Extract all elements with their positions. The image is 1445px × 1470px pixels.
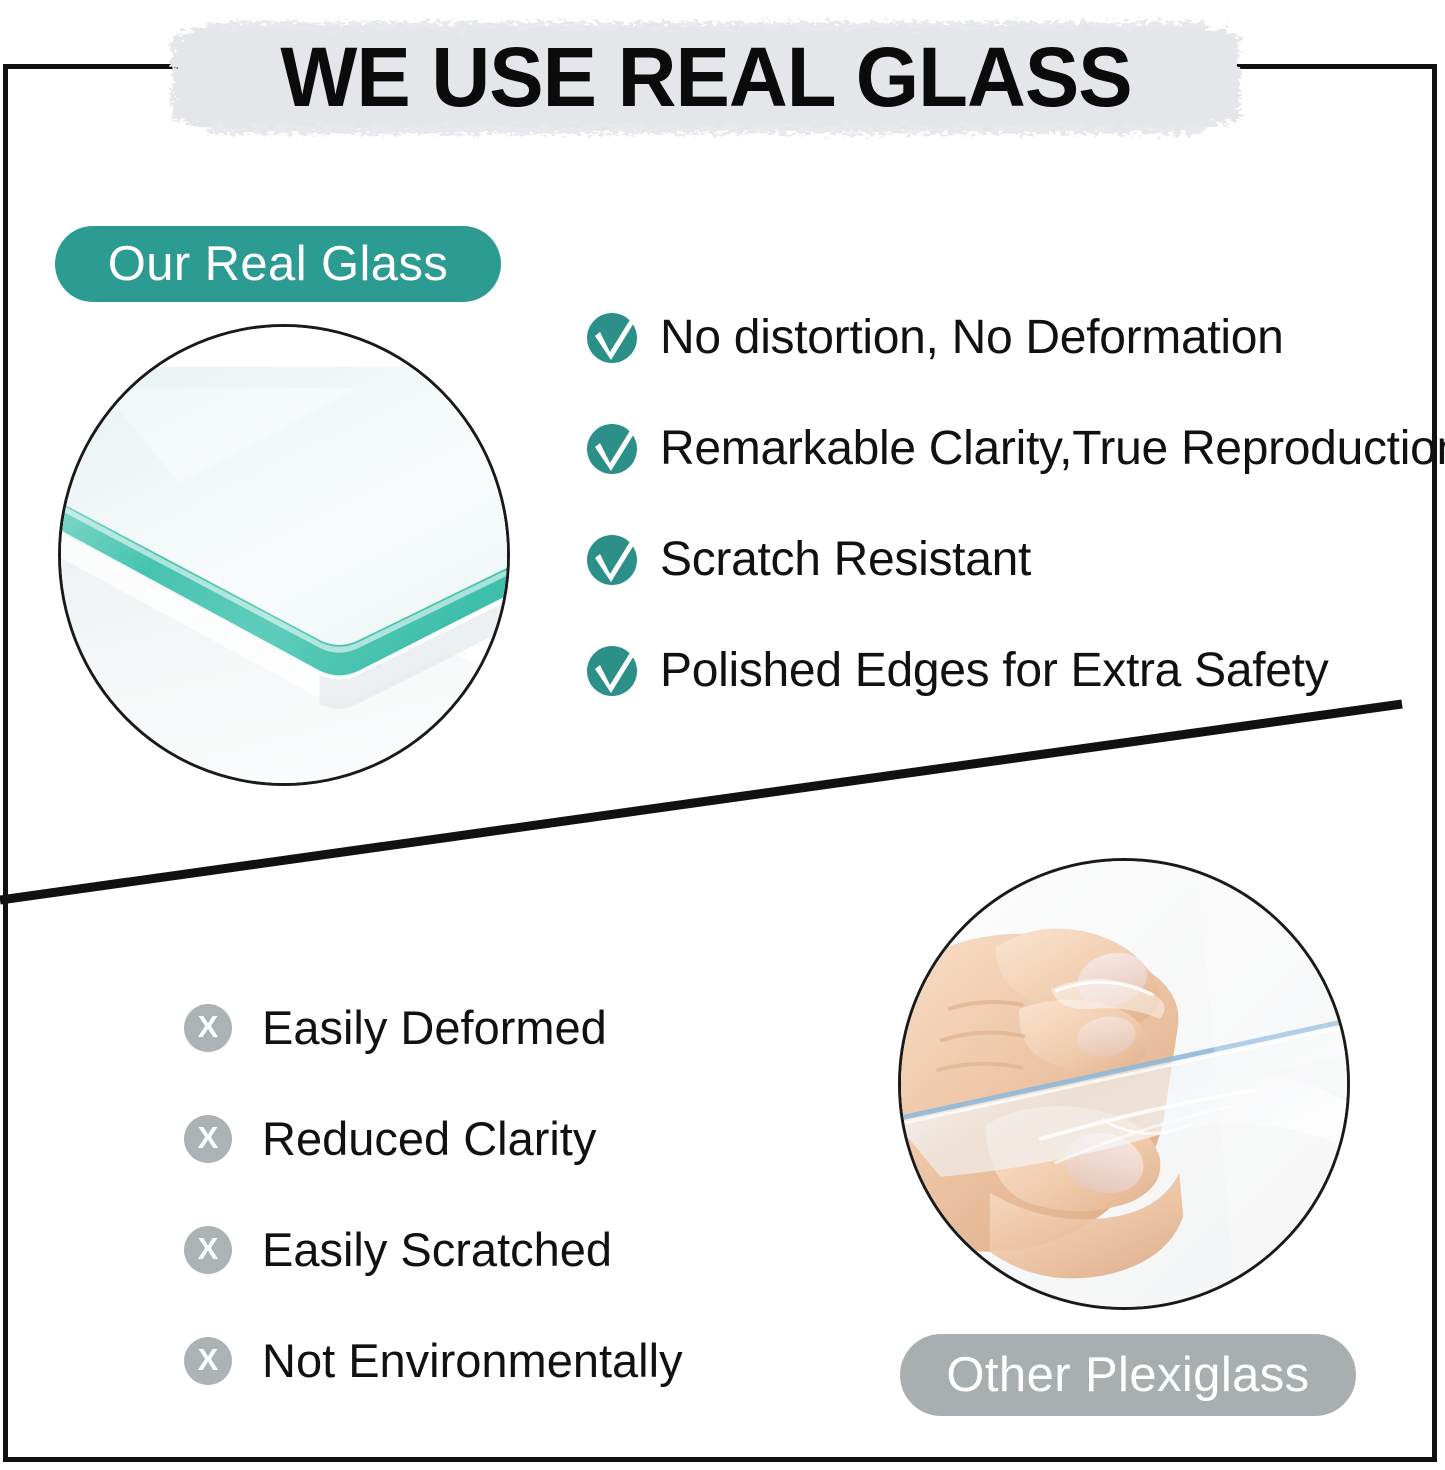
list-item: X Easily Scratched (184, 1194, 884, 1305)
list-item: X Reduced Clarity (184, 1083, 884, 1194)
check-icon-glyph (586, 641, 642, 699)
check-icon (586, 534, 638, 586)
check-icon-glyph (586, 308, 642, 366)
check-icon-glyph (586, 530, 642, 588)
list-item-label: Easily Scratched (262, 1226, 612, 1273)
x-icon: X (184, 1226, 232, 1274)
list-item-label: Reduced Clarity (262, 1115, 596, 1162)
list-item-label: Scratch Resistant (660, 536, 1031, 584)
list-item: X Easily Deformed (184, 972, 884, 1083)
check-icon (586, 312, 638, 364)
badge-other-plexiglass: Other Plexiglass (900, 1334, 1356, 1416)
title-banner: WE USE REAL GLASS (168, 14, 1244, 140)
list-item-label: Easily Deformed (262, 1004, 607, 1051)
list-item: Polished Edges for Extra Safety (586, 615, 1426, 726)
infographic-page: WE USE REAL GLASS Our Real Glass (0, 0, 1445, 1470)
check-icon (586, 423, 638, 475)
plexiglass-photo (898, 858, 1350, 1310)
check-icon (586, 645, 638, 697)
hand-bending-plexiglass-illustration (901, 861, 1347, 1307)
list-item: X Not Environmentally (184, 1305, 884, 1416)
list-item: Remarkable Clarity,True Reproduction (586, 393, 1426, 504)
x-icon: X (184, 1004, 232, 1052)
x-icon: X (184, 1115, 232, 1163)
badge-our-real-glass: Our Real Glass (55, 226, 501, 302)
list-item-label: Polished Edges for Extra Safety (660, 647, 1328, 695)
check-icon-glyph (586, 419, 642, 477)
list-item: Scratch Resistant (586, 504, 1426, 615)
list-item-label: Remarkable Clarity,True Reproduction (660, 425, 1445, 473)
real-glass-photo (58, 324, 510, 786)
list-item-label: No distortion, No Deformation (660, 314, 1284, 362)
page-title: WE USE REAL GLASS (184, 14, 1228, 140)
badge-other-plexiglass-label: Other Plexiglass (946, 1347, 1309, 1403)
glass-corner-illustration (61, 327, 507, 783)
list-item: No distortion, No Deformation (586, 282, 1426, 393)
advantages-list: No distortion, No Deformation Remarkable… (586, 282, 1426, 726)
list-item-label: Not Environmentally (262, 1337, 683, 1384)
badge-our-real-glass-label: Our Real Glass (108, 236, 449, 292)
disadvantages-list: X Easily Deformed X Reduced Clarity X Ea… (184, 972, 884, 1416)
x-icon: X (184, 1337, 232, 1385)
